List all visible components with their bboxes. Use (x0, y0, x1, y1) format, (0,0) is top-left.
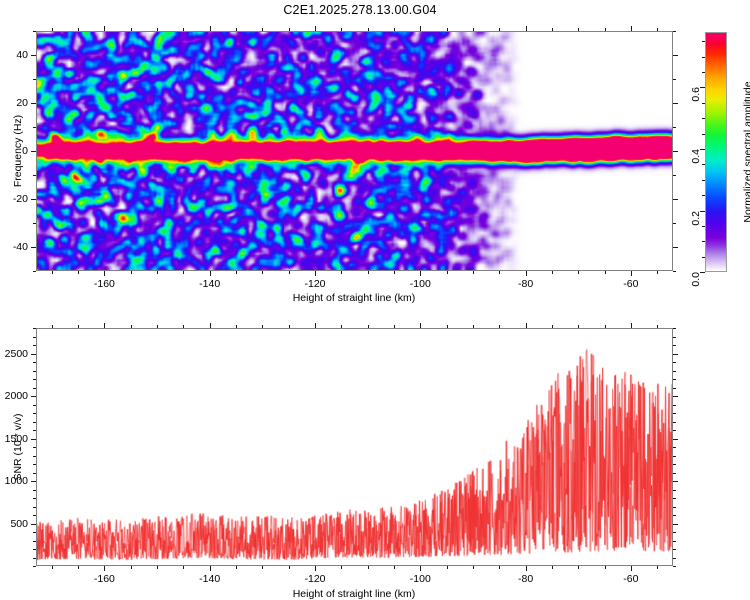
snr-ytick-minor (673, 371, 676, 372)
snr-xtick-minor (578, 566, 579, 569)
colorbar-tick-minor (702, 180, 705, 181)
snr-xtick-top (315, 323, 316, 328)
spectrogram-ytick-minor (33, 31, 36, 32)
colorbar-tick-minor (702, 241, 705, 242)
snr-ytick-minor (33, 388, 36, 389)
colorbar-ticklabel: 0.6 (690, 87, 702, 102)
colorbar-gradient (706, 33, 726, 271)
snr-xtick-minor (394, 566, 395, 569)
spectrogram-xtick-minor (131, 28, 132, 31)
spectrogram-xtick-top (420, 26, 421, 31)
snr-xtick (526, 566, 527, 571)
snr-ytick (31, 439, 36, 440)
spectrogram-xtick-minor (394, 28, 395, 31)
snr-yticklabel: 2500 (0, 348, 28, 360)
snr-xticklabel: -160 (94, 573, 115, 585)
spectrogram-xtick-top (631, 26, 632, 31)
snr-ytick-minor (33, 422, 36, 423)
spectrogram-xtick-minor (131, 271, 132, 274)
snr-xtick-minor (552, 566, 553, 569)
spectrogram-xtick-minor (52, 28, 53, 31)
spectrogram-xtick-minor (605, 28, 606, 31)
snr-xtick-minor (262, 325, 263, 328)
snr-xtick-minor (236, 566, 237, 569)
snr-ytick-minor (33, 379, 36, 380)
colorbar-tick-minor (702, 103, 705, 104)
snr-ytick-minor (673, 447, 676, 448)
spectrogram-xtick-minor (341, 271, 342, 274)
spectrogram-xtick-minor (289, 28, 290, 31)
snr-ytick-minor (673, 337, 676, 338)
colorbar-ticklabel: 0.0 (690, 272, 702, 287)
spectrogram-xtick-minor (341, 28, 342, 31)
spectrogram-xtick-minor (552, 28, 553, 31)
snr-ytick-minor (33, 337, 36, 338)
colorbar-tick-minor (702, 164, 705, 165)
snr-ytick-minor (33, 473, 36, 474)
spectrogram-xtick-minor (394, 271, 395, 274)
spectrogram-xtick-minor (499, 271, 500, 274)
snr-xtick-top (631, 323, 632, 328)
snr-xtick-minor (157, 566, 158, 569)
spectrogram-xtick-minor (657, 271, 658, 274)
snr-yticklabel: 500 (0, 518, 28, 530)
snr-ytick-minor (33, 507, 36, 508)
snr-ytick-minor (33, 456, 36, 457)
spectrogram-xtick-top (210, 26, 211, 31)
snr-yticklabel: 2000 (0, 390, 28, 402)
snr-xtick-minor (552, 325, 553, 328)
snr-ytick-minor (673, 532, 676, 533)
spectrogram-xticklabel: -140 (199, 278, 220, 290)
snr-ytick-minor (33, 345, 36, 346)
snr-xtick (420, 566, 421, 571)
snr-ytick-minor (673, 422, 676, 423)
spectrogram-image (37, 32, 672, 270)
snr-xtick-top (210, 323, 211, 328)
snr-ytick-right (673, 354, 678, 355)
snr-ytick (31, 481, 36, 482)
snr-ytick-minor (33, 515, 36, 516)
snr-xticklabel: -140 (199, 573, 220, 585)
spectrogram-xtick-minor (289, 271, 290, 274)
snr-ytick-minor (33, 498, 36, 499)
spectrogram-ytick-minor (33, 223, 36, 224)
snr-xticklabel: -80 (518, 573, 533, 585)
snr-xtick (210, 566, 211, 571)
snr-xtick-minor (341, 325, 342, 328)
snr-xtick-minor (131, 325, 132, 328)
colorbar-tick-minor (702, 118, 705, 119)
colorbar-ticklabel: 0.2 (690, 211, 702, 226)
snr-ytick-minor (673, 566, 676, 567)
snr-xtick (631, 566, 632, 571)
spectrogram-xticklabel: -100 (410, 278, 431, 290)
snr-xtick-minor (499, 566, 500, 569)
snr-ytick-minor (673, 541, 676, 542)
snr-ytick-minor (673, 464, 676, 465)
snr-ytick-minor (673, 549, 676, 550)
colorbar-tick-minor (702, 226, 705, 227)
spectrogram-xtick-minor (78, 271, 79, 274)
snr-xtick-minor (394, 325, 395, 328)
spectrogram-ytick-right (673, 55, 678, 56)
spectrogram-xtick-minor (499, 28, 500, 31)
snr-ytick-minor (33, 371, 36, 372)
spectrogram-xtick-minor (552, 271, 553, 274)
spectrogram-xtick-minor (262, 28, 263, 31)
snr-ytick-right (673, 524, 678, 525)
colorbar-label: Normalized spectral amplitude (742, 81, 750, 222)
spectrogram-xtick-minor (236, 28, 237, 31)
spectrogram-xticklabel: -160 (94, 278, 115, 290)
snr-ytick-minor (673, 473, 676, 474)
snr-ytick-minor (673, 388, 676, 389)
spectrogram-xtick-minor (236, 271, 237, 274)
spectrogram-xtick-minor (447, 271, 448, 274)
spectrogram-ytick-minor (673, 127, 676, 128)
spectrogram-ytick-minor (33, 175, 36, 176)
colorbar (705, 32, 727, 272)
snr-xtick-minor (78, 325, 79, 328)
spectrogram-ytick (31, 103, 36, 104)
spectrogram-xtick-minor (578, 271, 579, 274)
snr-ytick (31, 524, 36, 525)
spectrogram-ytick (31, 247, 36, 248)
snr-ytick-minor (673, 490, 676, 491)
snr-xtick-minor (78, 566, 79, 569)
snr-xtick-minor (605, 566, 606, 569)
snr-ytick-minor (673, 362, 676, 363)
snr-xtick-minor (52, 566, 53, 569)
snr-ytick-minor (673, 515, 676, 516)
snr-xtick-minor (368, 566, 369, 569)
spectrogram-xticklabel: -120 (304, 278, 325, 290)
snr-xtick-minor (473, 566, 474, 569)
snr-ytick-minor (673, 558, 676, 559)
snr-ytick (31, 354, 36, 355)
snr-ytick-minor (673, 328, 676, 329)
spectrogram-xtick (104, 271, 105, 276)
snr-ytick-right (673, 396, 678, 397)
snr-xticklabel: -100 (410, 573, 431, 585)
spectrogram-xtick (526, 271, 527, 276)
colorbar-ticklabel: 0.4 (690, 149, 702, 164)
spectrogram-xtick-minor (368, 271, 369, 274)
figure-root: C2E1.2025.278.13.00.G04 -160-140-120-100… (0, 0, 750, 600)
colorbar-tick-minor (702, 257, 705, 258)
spectrogram-ytick-minor (33, 271, 36, 272)
snr-xtick-minor (657, 566, 658, 569)
snr-ytick-minor (33, 430, 36, 431)
snr-xtick (315, 566, 316, 571)
snr-xtick-minor (499, 325, 500, 328)
spectrogram-yticklabel: -40 (0, 241, 28, 253)
snr-xtick-minor (447, 325, 448, 328)
spectrogram-ytick-right (673, 199, 678, 200)
snr-xtick-minor (368, 325, 369, 328)
snr-xtick-minor (157, 325, 158, 328)
spectrogram-xtick-minor (657, 28, 658, 31)
spectrogram-xticklabel: -80 (518, 278, 533, 290)
spectrogram-ytick-right (673, 103, 678, 104)
snr-ytick-minor (33, 490, 36, 491)
snr-xticklabel: -120 (304, 573, 325, 585)
spectrogram-xtick-minor (78, 28, 79, 31)
snr-ytick (31, 396, 36, 397)
spectrogram-xaxis-label: Height of straight line (km) (293, 292, 416, 304)
spectrogram-xtick (210, 271, 211, 276)
snr-xtick-minor (657, 325, 658, 328)
spectrogram-axes (36, 31, 673, 271)
snr-xtick-top (104, 323, 105, 328)
spectrogram-xtick-top (526, 26, 527, 31)
snr-xtick-minor (605, 325, 606, 328)
colorbar-tick-minor (702, 57, 705, 58)
snr-xtick-minor (447, 566, 448, 569)
snr-ytick-minor (673, 405, 676, 406)
spectrogram-yticklabel: -20 (0, 193, 28, 205)
snr-ytick-minor (33, 558, 36, 559)
snr-ytick-minor (33, 328, 36, 329)
spectrogram-xticklabel: -60 (623, 278, 638, 290)
snr-xtick-minor (289, 566, 290, 569)
snr-ytick-minor (673, 379, 676, 380)
spectrogram-xtick-minor (368, 28, 369, 31)
spectrogram-xtick-minor (157, 28, 158, 31)
colorbar-tick-minor (702, 72, 705, 73)
snr-ytick-minor (673, 498, 676, 499)
colorbar-tick-minor (702, 41, 705, 42)
spectrogram-xtick-minor (578, 28, 579, 31)
spectrogram-xtick-minor (183, 271, 184, 274)
spectrogram-xtick-minor (473, 271, 474, 274)
snr-xtick-minor (52, 325, 53, 328)
spectrogram-xtick-minor (605, 271, 606, 274)
spectrogram-xtick-top (315, 26, 316, 31)
snr-ytick-minor (33, 447, 36, 448)
snr-ytick-minor (33, 362, 36, 363)
snr-xtick-minor (236, 325, 237, 328)
snr-yaxis-label: SNR (10 * v/v) (12, 413, 24, 480)
spectrogram-ytick-minor (673, 223, 676, 224)
spectrogram-ytick-minor (33, 127, 36, 128)
snr-xtick-minor (578, 325, 579, 328)
spectrogram-ytick-minor (673, 79, 676, 80)
spectrogram-xtick-minor (183, 28, 184, 31)
snr-xtick-minor (473, 325, 474, 328)
snr-ytick-minor (673, 413, 676, 414)
snr-axes (36, 328, 673, 566)
snr-ytick-minor (33, 566, 36, 567)
spectrogram-ytick (31, 55, 36, 56)
spectrogram-xtick-minor (52, 271, 53, 274)
spectrogram-ytick-minor (673, 31, 676, 32)
spectrogram-xtick-minor (262, 271, 263, 274)
snr-ytick-right (673, 439, 678, 440)
snr-ytick-minor (673, 345, 676, 346)
spectrogram-xtick-minor (447, 28, 448, 31)
spectrogram-ytick-minor (673, 175, 676, 176)
spectrogram-xtick-minor (157, 271, 158, 274)
snr-xtick-minor (341, 566, 342, 569)
snr-ytick-minor (673, 430, 676, 431)
snr-xtick-top (420, 323, 421, 328)
snr-xtick-minor (289, 325, 290, 328)
snr-ytick-minor (33, 413, 36, 414)
spectrogram-ytick-minor (33, 79, 36, 80)
snr-xtick-minor (183, 566, 184, 569)
snr-ytick-minor (33, 541, 36, 542)
spectrogram-ytick-right (673, 151, 678, 152)
spectrogram-ytick (31, 151, 36, 152)
spectrogram-xtick-top (104, 26, 105, 31)
snr-ytick-right (673, 481, 678, 482)
colorbar-tick-minor (702, 134, 705, 135)
snr-ytick-minor (673, 456, 676, 457)
snr-ytick-minor (673, 507, 676, 508)
snr-ytick-minor (33, 549, 36, 550)
spectrogram-xtick (631, 271, 632, 276)
snr-xaxis-label: Height of straight line (km) (293, 588, 416, 600)
spectrogram-yticklabel: 20 (0, 97, 28, 109)
colorbar-tick-minor (702, 195, 705, 196)
spectrogram-yaxis-label: Frequency (Hz) (12, 115, 24, 187)
snr-xtick-minor (262, 566, 263, 569)
snr-xtick-minor (183, 325, 184, 328)
page-title: C2E1.2025.278.13.00.G04 (0, 3, 720, 17)
snr-ytick-minor (33, 532, 36, 533)
spectrogram-xtick (420, 271, 421, 276)
snr-ytick-minor (33, 405, 36, 406)
spectrogram-yticklabel: 40 (0, 49, 28, 61)
spectrogram-ytick-minor (673, 271, 676, 272)
snr-ytick-minor (33, 464, 36, 465)
snr-xtick (104, 566, 105, 571)
snr-xtick-top (526, 323, 527, 328)
spectrogram-ytick (31, 199, 36, 200)
snr-xticklabel: -60 (623, 573, 638, 585)
spectrogram-ytick-right (673, 247, 678, 248)
snr-xtick-minor (131, 566, 132, 569)
snr-line-plot (37, 329, 672, 565)
spectrogram-xtick (315, 271, 316, 276)
spectrogram-xtick-minor (473, 28, 474, 31)
